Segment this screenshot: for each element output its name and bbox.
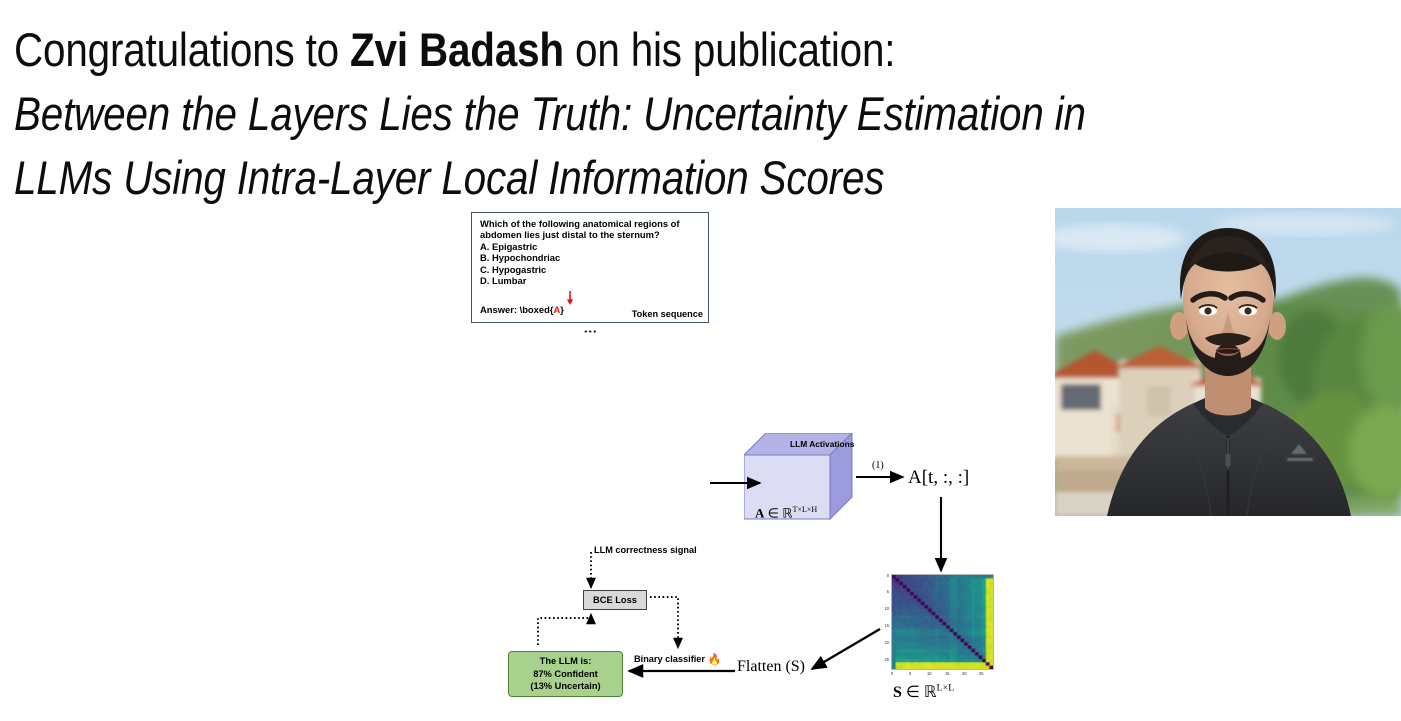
arrow-heatmap-to-flatten [812, 629, 880, 669]
matrix-in: ∈ [902, 684, 924, 701]
heatmap-y-axis: 0 5 10 15 20 25 [878, 571, 891, 671]
y-tick-15: 15 [884, 623, 889, 628]
tensor-space: ℝ [782, 505, 792, 520]
headline-line-1: Congratulations to Zvi Badash on his pub… [14, 18, 1201, 82]
slice-notation: A[t, :, :] [908, 467, 969, 489]
headline-prefix: Congratulations to [14, 23, 350, 76]
cube-title-label: LLM Activations [790, 439, 854, 449]
matrix-dims: L×L [937, 683, 955, 694]
result-line-3: (13% Uncertain) [530, 680, 600, 693]
dotted-bce-to-classifier [650, 597, 678, 648]
token-sequence-label: Token sequence [632, 309, 703, 319]
result-line-2: 87% Confident [533, 668, 598, 681]
heatmap-canvas [891, 574, 994, 670]
tensor-notation: A ∈ ℝT×L×H [755, 505, 817, 521]
x-tick-10: 10 [927, 671, 932, 676]
headline-line-3: LLMs Using Intra-Layer Local Information… [14, 146, 1201, 210]
y-tick-20: 20 [884, 640, 889, 645]
x-tick-20: 20 [962, 671, 967, 676]
tensor-dims: T×L×H [793, 505, 818, 514]
step-1-label: (1) [872, 460, 884, 471]
honoree-name: Zvi Badash [350, 23, 564, 76]
y-tick-25: 25 [884, 657, 889, 662]
prompt-question-text: Which of the following anatomical region… [480, 218, 704, 286]
tensor-in: ∈ [764, 505, 782, 520]
prompt-ellipsis: ⋮ [588, 325, 593, 338]
tensor-symbol: A [755, 505, 764, 520]
x-tick-15: 15 [945, 671, 950, 676]
heatmap-x-axis: 0 5 10 15 20 25 [891, 671, 994, 681]
red-down-arrow-icon [565, 291, 575, 305]
x-tick-5: 5 [909, 671, 911, 676]
answer-suffix: } [560, 304, 564, 315]
binary-classifier-text: Binary classifier [634, 654, 705, 664]
prompt-answer-line: Answer: \boxed{A} [480, 304, 564, 315]
method-diagram: Which of the following anatomical region… [0, 205, 1060, 516]
similarity-heatmap [891, 574, 994, 670]
fire-icon: 🔥 [708, 654, 722, 666]
binary-classifier-label: Binary classifier 🔥 [634, 653, 721, 666]
result-line-1: The LLM is: [540, 655, 592, 668]
answer-prefix: Answer: \boxed{ [480, 304, 553, 315]
llm-correctness-signal-label: LLM correctness signal [594, 545, 697, 555]
y-tick-10: 10 [884, 606, 889, 611]
y-tick-0: 0 [887, 573, 889, 578]
headline-line-2: Between the Layers Lies the Truth: Uncer… [14, 82, 1201, 146]
matrix-symbol: S [893, 684, 902, 701]
x-tick-0: 0 [891, 671, 893, 676]
honoree-photo [1055, 208, 1401, 516]
result-confidence-box: The LLM is: 87% Confident (13% Uncertain… [508, 651, 623, 697]
headline-block: Congratulations to Zvi Badash on his pub… [14, 18, 1394, 210]
flatten-label: Flatten (S) [737, 658, 805, 676]
matrix-space: ℝ [924, 684, 937, 701]
x-tick-25: 25 [979, 671, 984, 676]
headline-suffix: on his publication: [564, 23, 895, 76]
dotted-result-to-bce [538, 614, 591, 645]
matrix-notation: S ∈ ℝL×L [893, 682, 954, 702]
y-tick-5: 5 [887, 589, 889, 594]
prompt-box: Which of the following anatomical region… [471, 212, 709, 323]
bce-loss-box: BCE Loss [583, 590, 647, 610]
